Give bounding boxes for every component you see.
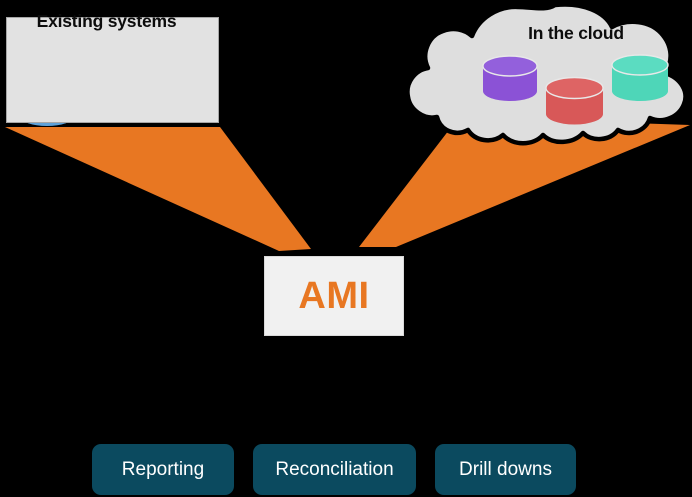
button-drill-downs-label: Drill downs [459,459,552,481]
button-reporting-label: Reporting [122,459,204,481]
button-reconciliation-label: Reconciliation [275,459,393,481]
output-buttons-row: Reporting Reconciliation Drill downs [0,444,692,496]
button-drill-downs[interactable]: Drill downs [435,444,576,495]
existing-systems-panel [6,17,219,123]
ami-label: AMI [298,275,369,318]
database-red [546,78,603,125]
database-teal [612,55,668,101]
funnel-from-existing-systems [5,127,311,251]
database-purple [483,56,537,101]
cloud-title: In the cloud [470,23,682,44]
existing-systems-title: Existing systems [0,11,213,32]
button-reconciliation[interactable]: Reconciliation [253,444,416,495]
button-reporting[interactable]: Reporting [92,444,234,495]
ami-box: AMI [264,256,404,336]
diagram-canvas: Existing systems In the cloud AMI Report… [0,0,692,497]
